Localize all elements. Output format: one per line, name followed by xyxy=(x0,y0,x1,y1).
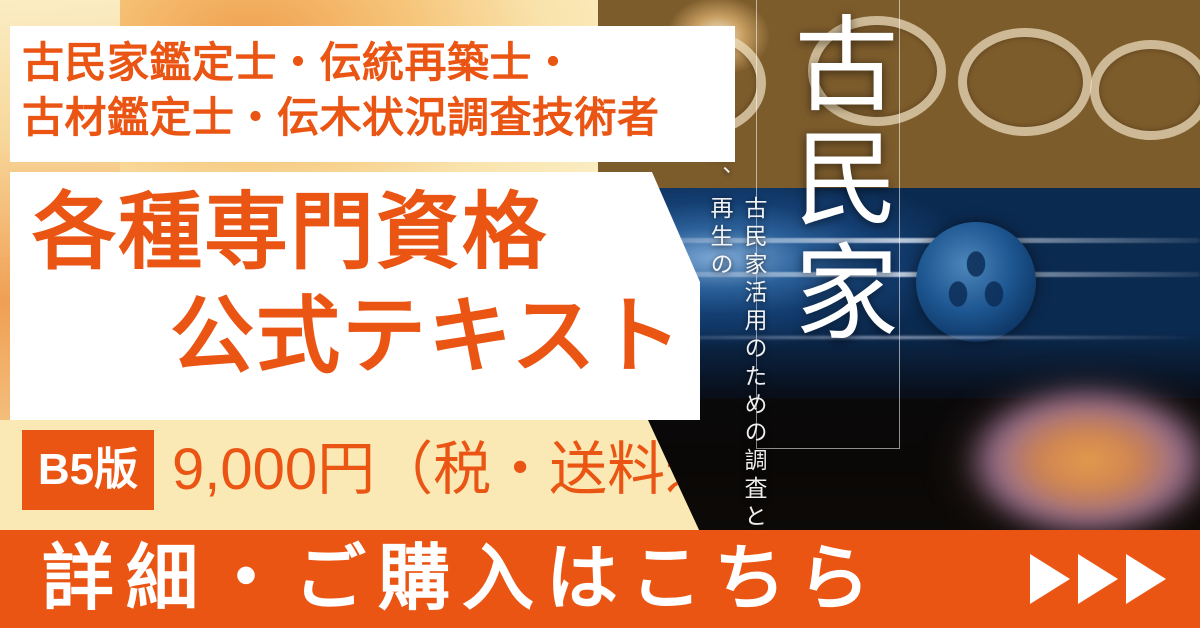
certifications-panel: 古民家鑑定士・伝統再築士・ 古材鑑定士・伝木状況調査技術者 xyxy=(10,26,735,162)
certification-line-1: 古民家鑑定士・伝統再築士・ xyxy=(22,35,735,90)
cover-subtitle-lower: 古民家活用のための調査と再生の xyxy=(702,196,770,540)
wood-swirl-icon xyxy=(1090,40,1200,140)
cta-label: 詳細・ご購入はこちら xyxy=(42,536,882,622)
cta-arrow-group xyxy=(1030,554,1166,604)
chevron-right-icon xyxy=(1078,554,1118,604)
size-badge: B5版 xyxy=(22,430,154,510)
product-title-panel: 各種専門資格 公式テキスト xyxy=(10,172,700,420)
chevron-right-icon xyxy=(1126,554,1166,604)
wood-swirl-icon xyxy=(958,28,1092,136)
chevron-right-icon xyxy=(1030,554,1070,604)
promo-banner: 古民家 伝統構法、 古民家活用のための調査と再生の 古民家鑑定士・伝統再築士・ … xyxy=(0,0,1200,628)
certification-line-2: 古材鑑定士・伝木状況調査技術者 xyxy=(22,90,735,145)
cta-bar[interactable]: 詳細・ご購入はこちら xyxy=(0,530,1200,628)
product-title-line-2: 公式テキスト xyxy=(170,294,683,378)
price-panel: B5版 9,000円（税・送料込） xyxy=(0,420,700,532)
cover-title-text: 古民家 xyxy=(758,10,896,352)
product-title-line-1: 各種専門資格 xyxy=(32,190,548,274)
